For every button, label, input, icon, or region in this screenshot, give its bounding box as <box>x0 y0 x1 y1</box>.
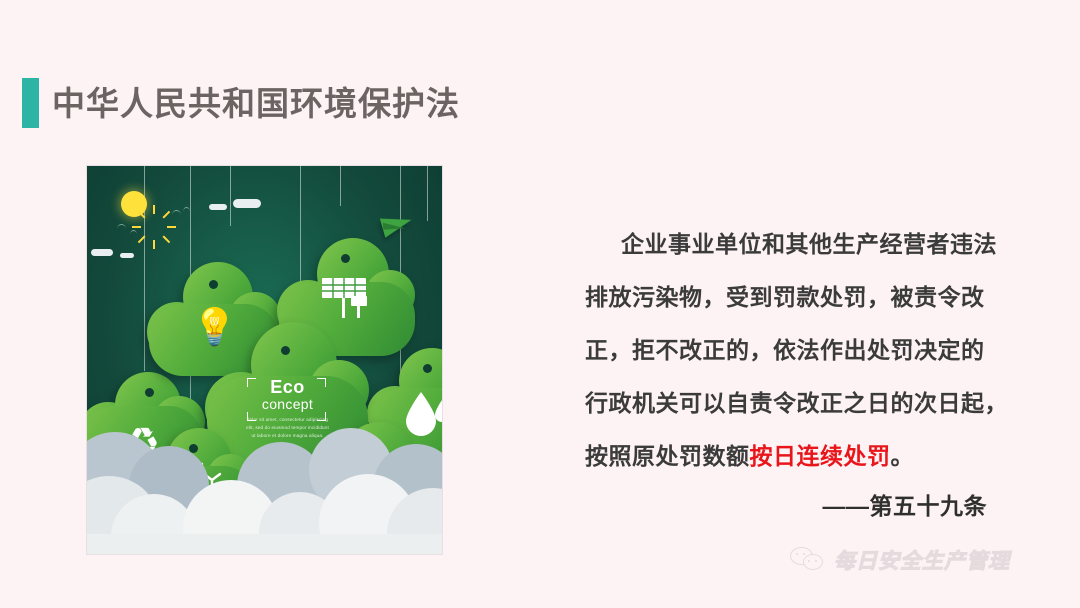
cloud-puff <box>87 534 443 555</box>
small-cloud <box>91 249 113 256</box>
bird-icon <box>130 230 137 235</box>
hanging-string <box>230 166 231 226</box>
hanging-string <box>427 166 428 221</box>
body-line-2: 排放污染物，受到罚款处罚，被责令改 <box>585 271 1005 324</box>
small-cloud <box>233 199 261 208</box>
body-line-4: 行政机关可以自责令改正之日的次日起， <box>585 377 1005 430</box>
solar-panel-icon <box>277 276 417 320</box>
title-label: 中华人民共和国环境保护法 <box>52 87 460 120</box>
page-title: 中华人民共和国环境保护法 <box>22 78 460 128</box>
bird-icon <box>117 224 126 229</box>
body-line-5-prefix: 按照原处罚数额 <box>585 443 750 469</box>
body-line-5-highlight: 按日连续处罚 <box>750 443 891 469</box>
body-line-1: 企业事业单位和其他生产经营者违法 <box>585 218 1005 271</box>
sun-rays-icon <box>133 184 175 226</box>
body-line-5: 按照原处罚数额按日连续处罚。 <box>585 430 1005 483</box>
slide-root: 中华人民共和国环境保护法 <box>0 0 1080 608</box>
eco-illustration: ♻ 💡 <box>86 165 443 555</box>
hanging-string <box>340 166 341 206</box>
body-line-3: 正，拒不改正的，依法作出处罚决定的 <box>585 324 1005 377</box>
small-cloud <box>209 204 227 210</box>
wechat-icon <box>790 547 824 573</box>
small-cloud <box>120 253 134 258</box>
title-accent-bar <box>22 78 39 128</box>
cloud-bank <box>87 384 442 554</box>
bird-icon <box>172 210 181 215</box>
bird-icon <box>183 207 190 212</box>
body-line-5-suffix: 。 <box>891 443 915 469</box>
solar-panel-glyph <box>320 276 374 320</box>
watermark-label: 每日安全生产管理 <box>834 545 1010 575</box>
wechat-bubble-small <box>803 554 823 570</box>
attribution-line: ——第五十九条 <box>585 487 1005 521</box>
body-paragraph: 企业事业单位和其他生产经营者违法 排放污染物，受到罚款处罚，被责令改 正，拒不改… <box>585 218 1005 483</box>
watermark: 每日安全生产管理 <box>790 545 1010 575</box>
